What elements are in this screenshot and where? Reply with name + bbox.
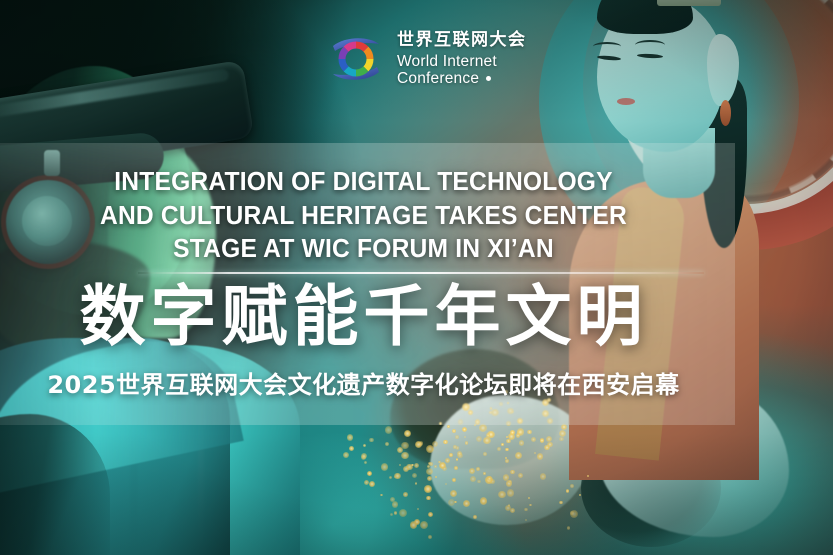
- headline-line-3: STAGE AT WIC FORUM IN XI’AN: [24, 233, 702, 267]
- banner-root: 世界互联网大会 World Internet Conference INTEGR…: [0, 0, 833, 555]
- chinese-subtitle: 2025世界互联网大会文化遗产数字化论坛即将在西安启幕: [0, 372, 833, 398]
- wic-logo-text: 世界互联网大会 World Internet Conference: [397, 31, 527, 88]
- wic-logo-en: World Internet Conference: [397, 53, 527, 88]
- wic-logo-en-line1: World Internet: [397, 53, 497, 70]
- english-headline: INTEGRATION OF DIGITAL TECHNOLOGY AND CU…: [0, 166, 833, 267]
- chinese-title: 数字赋能千年文明: [0, 284, 833, 350]
- headline-line-2: AND CULTURAL HERITAGE TAKES CENTER: [24, 200, 702, 234]
- wic-logo-en-line2: Conference: [397, 70, 479, 87]
- headline-divider: [138, 272, 704, 274]
- headline-line-1: INTEGRATION OF DIGITAL TECHNOLOGY: [24, 166, 702, 200]
- wic-logo-icon: [325, 28, 387, 90]
- wic-logo-cn: 世界互联网大会: [397, 31, 527, 48]
- wic-logo-dot: [486, 76, 491, 81]
- wic-logo: 世界互联网大会 World Internet Conference: [325, 28, 527, 90]
